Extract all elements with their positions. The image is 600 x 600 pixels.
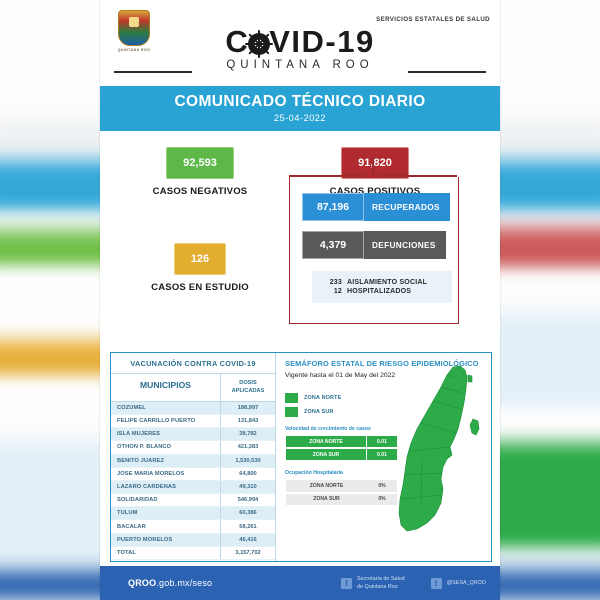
table-row: ZONA NORTE 0% (285, 479, 398, 492)
vaccination-table-header: MUNICIPIOS DOSIS APLICADAS (111, 373, 275, 402)
stats-section: 92,593 CASOS NEGATIVOS 91,820 CASOS POSI… (100, 131, 500, 376)
vaccination-panel: VACUNACIÓN CONTRA COVID-19 MUNICIPIOS DO… (111, 353, 276, 561)
defunciones-label: DEFUNCIONES (364, 231, 446, 259)
dosis-aplicadas-value: 49,310 (220, 481, 275, 493)
municipio-name: TOTAL (111, 547, 220, 559)
map-svg (397, 363, 489, 555)
footer-site-bold: QROO (128, 578, 156, 588)
table-row: OTHON P. BLANCO421,383 (111, 441, 275, 454)
stat-recuperados: 87,196 RECUPERADOS (302, 193, 450, 221)
stat-defunciones: 4,379 DEFUNCIONES (302, 231, 446, 259)
recuperados-value: 87,196 (302, 193, 364, 221)
poster-footer: QROO.gob.mx/seso f Secretaría de Salud d… (100, 566, 500, 600)
facebook-label: Secretaría de Salud de Quintana Roo (357, 575, 405, 591)
ocupacion-zona-norte-label: ZONA NORTE (286, 480, 367, 491)
table-row: ZONA SUR 0% (285, 493, 398, 506)
facebook-icon: f (341, 578, 352, 589)
velocidad-zona-norte-label: ZONA NORTE (286, 436, 366, 447)
banner-title: COMUNICADO TÉCNICO DIARIO (100, 93, 500, 111)
stats-detail-box: 233 AISLAMIENTO SOCIAL 12 HOSPITALIZADOS (312, 271, 452, 303)
poster-body: QUINTANA ROO SERVICIOS ESTATALES DE SALU… (100, 0, 500, 600)
dosis-aplicadas-value: 188,997 (220, 402, 275, 414)
ocupacion-zona-sur-value: 0% (367, 494, 397, 505)
municipio-name: COZUMEL (111, 402, 220, 414)
ocupacion-zona-norte-value: 0% (367, 480, 397, 491)
table-row: ZONA NORTE 0.01 (285, 435, 398, 448)
velocidad-zona-norte-value: 0.01 (366, 436, 397, 447)
facebook-line1: Secretaría de Salud (357, 576, 405, 582)
footer-site-rest: .gob.mx/seso (156, 578, 212, 588)
background-blur-right (488, 0, 600, 600)
defunciones-value: 4,379 (302, 231, 364, 259)
dosis-aplicadas-value: 421,383 (220, 441, 275, 453)
municipio-name: BENITO JUAREZ (111, 455, 220, 467)
dosis-aplicadas-value: 58,261 (220, 520, 275, 532)
velocidad-table: ZONA NORTE 0.01 ZONA SUR 0.01 (285, 435, 398, 461)
ocupacion-zona-sur-label: ZONA SUR (286, 494, 367, 505)
footer-twitter[interactable]: t @SESA_QROO (431, 578, 486, 589)
dosis-aplicadas-value: 46,416 (220, 534, 275, 546)
background-blur-left (0, 0, 112, 600)
quintana-roo-map (397, 363, 489, 555)
banner-date: 25-04-2022 (100, 113, 500, 123)
casos-estudio-value: 126 (174, 243, 226, 275)
municipio-name: JOSE MARIA MORELOS (111, 468, 220, 480)
column-header-municipios: MUNICIPIOS (111, 374, 220, 401)
footer-website[interactable]: QROO.gob.mx/seso (128, 578, 212, 588)
bottom-panel: VACUNACIÓN CONTRA COVID-19 MUNICIPIOS DO… (110, 352, 492, 562)
table-row: PUERTO MORELOS46,416 (111, 534, 275, 547)
detail-row: 12 HOSPITALIZADOS (322, 288, 444, 295)
table-row: BACALAR58,261 (111, 520, 275, 533)
table-row: ZONA SUR 0.01 (285, 448, 398, 461)
municipio-name: TULUM (111, 507, 220, 519)
stat-casos-negativos: 92,593 CASOS NEGATIVOS (130, 147, 270, 197)
dosis-aplicadas-value: 60,386 (220, 507, 275, 519)
title-rule-left (114, 71, 192, 73)
velocidad-zona-sur-value: 0.01 (366, 449, 397, 460)
stat-casos-en-estudio: 126 CASOS EN ESTUDIO (130, 243, 270, 293)
vaccination-table-body: COZUMEL188,997FELIPE CARRILLO PUERTO131,… (111, 402, 275, 560)
poster-header: QUINTANA ROO SERVICIOS ESTATALES DE SALU… (100, 0, 500, 86)
recuperados-label: RECUPERADOS (364, 193, 450, 221)
footer-social: f Secretaría de Salud de Quintana Roo t … (315, 575, 486, 591)
title-text-right: VID-19 (269, 24, 374, 59)
twitter-icon: t (431, 578, 442, 589)
title-text-left: C (225, 24, 249, 59)
dosis-line2: APLICADAS (221, 387, 275, 395)
table-row: ISLA MUJERES38,782 (111, 428, 275, 441)
poster-screenshot: QUINTANA ROO SERVICIOS ESTATALES DE SALU… (0, 0, 600, 600)
municipio-name: OTHON P. BLANCO (111, 441, 220, 453)
org-line: SERVICIOS ESTATALES DE SALUD (376, 16, 490, 23)
semaforo-panel: SEMÁFORO ESTATAL DE RIESGO EPIDEMIOLÓGIC… (276, 353, 491, 561)
connector-stem (372, 157, 374, 177)
dosis-aplicadas-value: 64,800 (220, 468, 275, 480)
dosis-aplicadas-value: 38,782 (220, 428, 275, 440)
vaccination-title: VACUNACIÓN CONTRA COVID-19 (111, 353, 275, 373)
dosis-aplicadas-value: 131,843 (220, 415, 275, 427)
municipio-name: LAZARO CARDENAS (111, 481, 220, 493)
page-title: CVID-19 (225, 26, 374, 57)
map-island-cozumel-shape (470, 419, 479, 435)
column-header-dosis: DOSIS APLICADAS (220, 374, 275, 401)
table-row: LAZARO CARDENAS49,310 (111, 481, 275, 494)
detail-row: 233 AISLAMIENTO SOCIAL (322, 279, 444, 286)
ocupacion-table: ZONA NORTE 0% ZONA SUR 0% (285, 479, 398, 505)
daily-report-banner: COMUNICADO TÉCNICO DIARIO 25-04-2022 (100, 86, 500, 131)
hospitalizados-value: 12 (322, 288, 342, 295)
virus-icon (248, 33, 270, 55)
dosis-line1: DOSIS (221, 379, 275, 387)
table-row: SOLIDARIDAD546,994 (111, 494, 275, 507)
table-row: JOSE MARIA MORELOS64,800 (111, 468, 275, 481)
dosis-aplicadas-value: 3,157,702 (220, 547, 275, 559)
legend-label-zona-sur: ZONA SUR (304, 409, 334, 415)
municipio-name: ISLA MUJERES (111, 428, 220, 440)
facebook-line2: de Quintana Roo (357, 584, 398, 590)
title-subtitle: QUINTANA ROO (100, 59, 500, 71)
velocidad-zona-sur-label: ZONA SUR (286, 449, 366, 460)
aislamiento-label: AISLAMIENTO SOCIAL (347, 279, 427, 286)
title-rule-right (408, 71, 486, 73)
municipio-name: FELIPE CARRILLO PUERTO (111, 415, 220, 427)
legend-label-zona-norte: ZONA NORTE (304, 395, 341, 401)
casos-negativos-label: CASOS NEGATIVOS (130, 186, 270, 197)
aislamiento-value: 233 (322, 279, 342, 286)
municipio-name: PUERTO MORELOS (111, 534, 220, 546)
table-row: BENITO JUAREZ1,530,530 (111, 455, 275, 468)
dosis-aplicadas-value: 1,530,530 (220, 455, 275, 467)
casos-positivos-value: 91,820 (341, 147, 409, 179)
table-row: FELIPE CARRILLO PUERTO131,843 (111, 415, 275, 428)
casos-estudio-label: CASOS EN ESTUDIO (130, 282, 270, 293)
title-block: CVID-19 QUINTANA ROO (100, 26, 500, 71)
legend-swatch-icon (285, 393, 298, 403)
map-island-isla-mujeres-shape (468, 375, 472, 382)
table-row: TOTAL3,157,702 (111, 547, 275, 560)
dosis-aplicadas-value: 546,994 (220, 494, 275, 506)
twitter-label: @SESA_QROO (447, 579, 486, 587)
municipio-name: SOLIDARIDAD (111, 494, 220, 506)
municipio-name: BACALAR (111, 520, 220, 532)
table-row: TULUM60,386 (111, 507, 275, 520)
legend-swatch-icon (285, 407, 298, 417)
casos-negativos-value: 92,593 (166, 147, 234, 179)
footer-facebook[interactable]: f Secretaría de Salud de Quintana Roo (341, 575, 405, 591)
hospitalizados-label: HOSPITALIZADOS (347, 288, 411, 295)
table-row: COZUMEL188,997 (111, 402, 275, 415)
